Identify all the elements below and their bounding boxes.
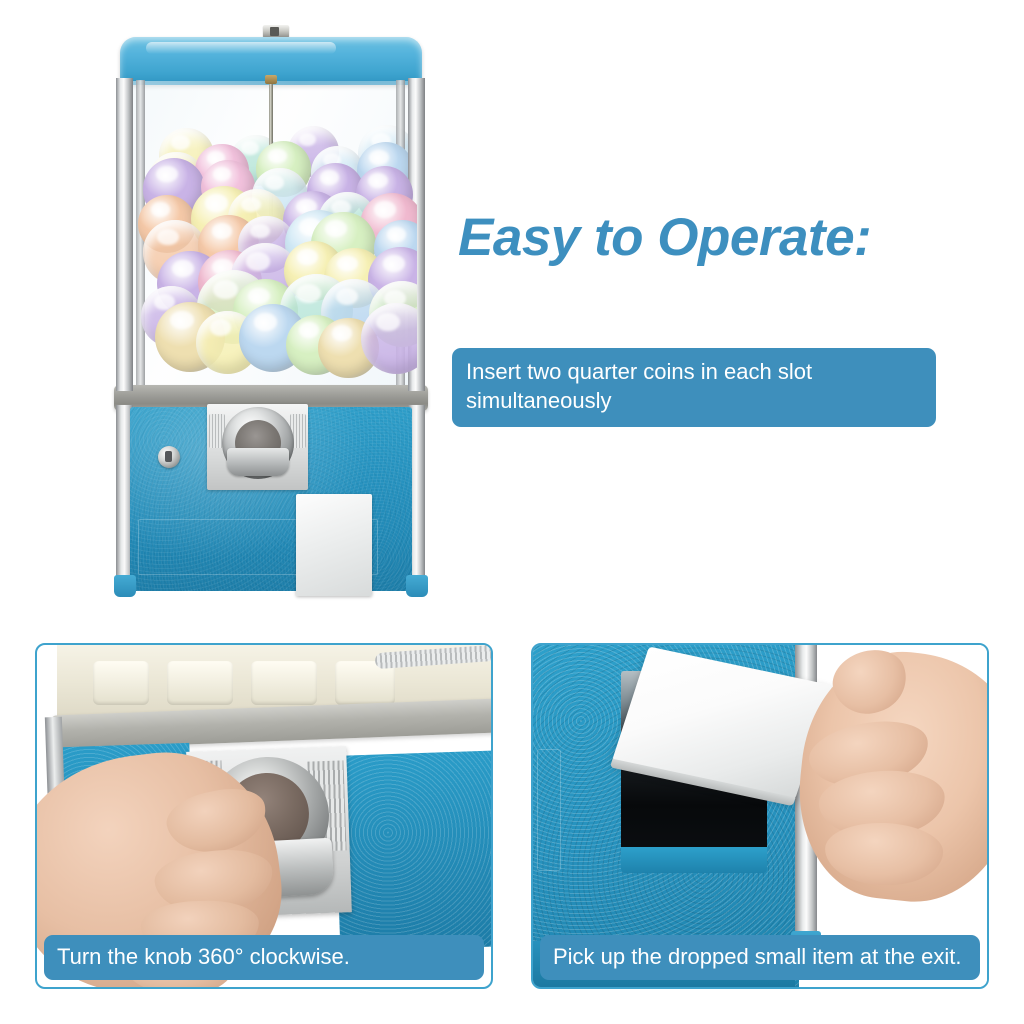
blue-body-right bbox=[334, 750, 491, 952]
corner-post-left bbox=[116, 78, 133, 391]
machine-foot-right bbox=[406, 575, 428, 597]
step-3-caption: Pick up the dropped small item at the ex… bbox=[540, 935, 980, 980]
coin-lever bbox=[227, 448, 289, 476]
step-1-callout: Insert two quarter coins in each slot si… bbox=[452, 348, 936, 427]
tray-rod bbox=[375, 645, 491, 669]
hero-section: Easy to Operate: Insert two quarter coin… bbox=[0, 0, 1024, 618]
exit-opening-lip bbox=[621, 847, 767, 873]
step-2-caption: Turn the knob 360° clockwise. bbox=[44, 935, 484, 980]
tray-slot bbox=[167, 661, 233, 705]
coin-mechanism bbox=[207, 404, 308, 490]
vending-machine-image bbox=[108, 18, 434, 600]
tray-slot bbox=[93, 661, 149, 705]
step-3-panel: Pick up the dropped small item at the ex… bbox=[531, 643, 989, 989]
body-key-lock-icon bbox=[158, 446, 180, 468]
tray-slot bbox=[251, 661, 317, 705]
machine-foot-left bbox=[114, 575, 136, 597]
body-seam bbox=[537, 749, 561, 871]
page-title: Easy to Operate: bbox=[458, 211, 871, 264]
exit-flap bbox=[296, 494, 372, 596]
step-2-panel: Turn the knob 360° clockwise. bbox=[35, 643, 493, 989]
